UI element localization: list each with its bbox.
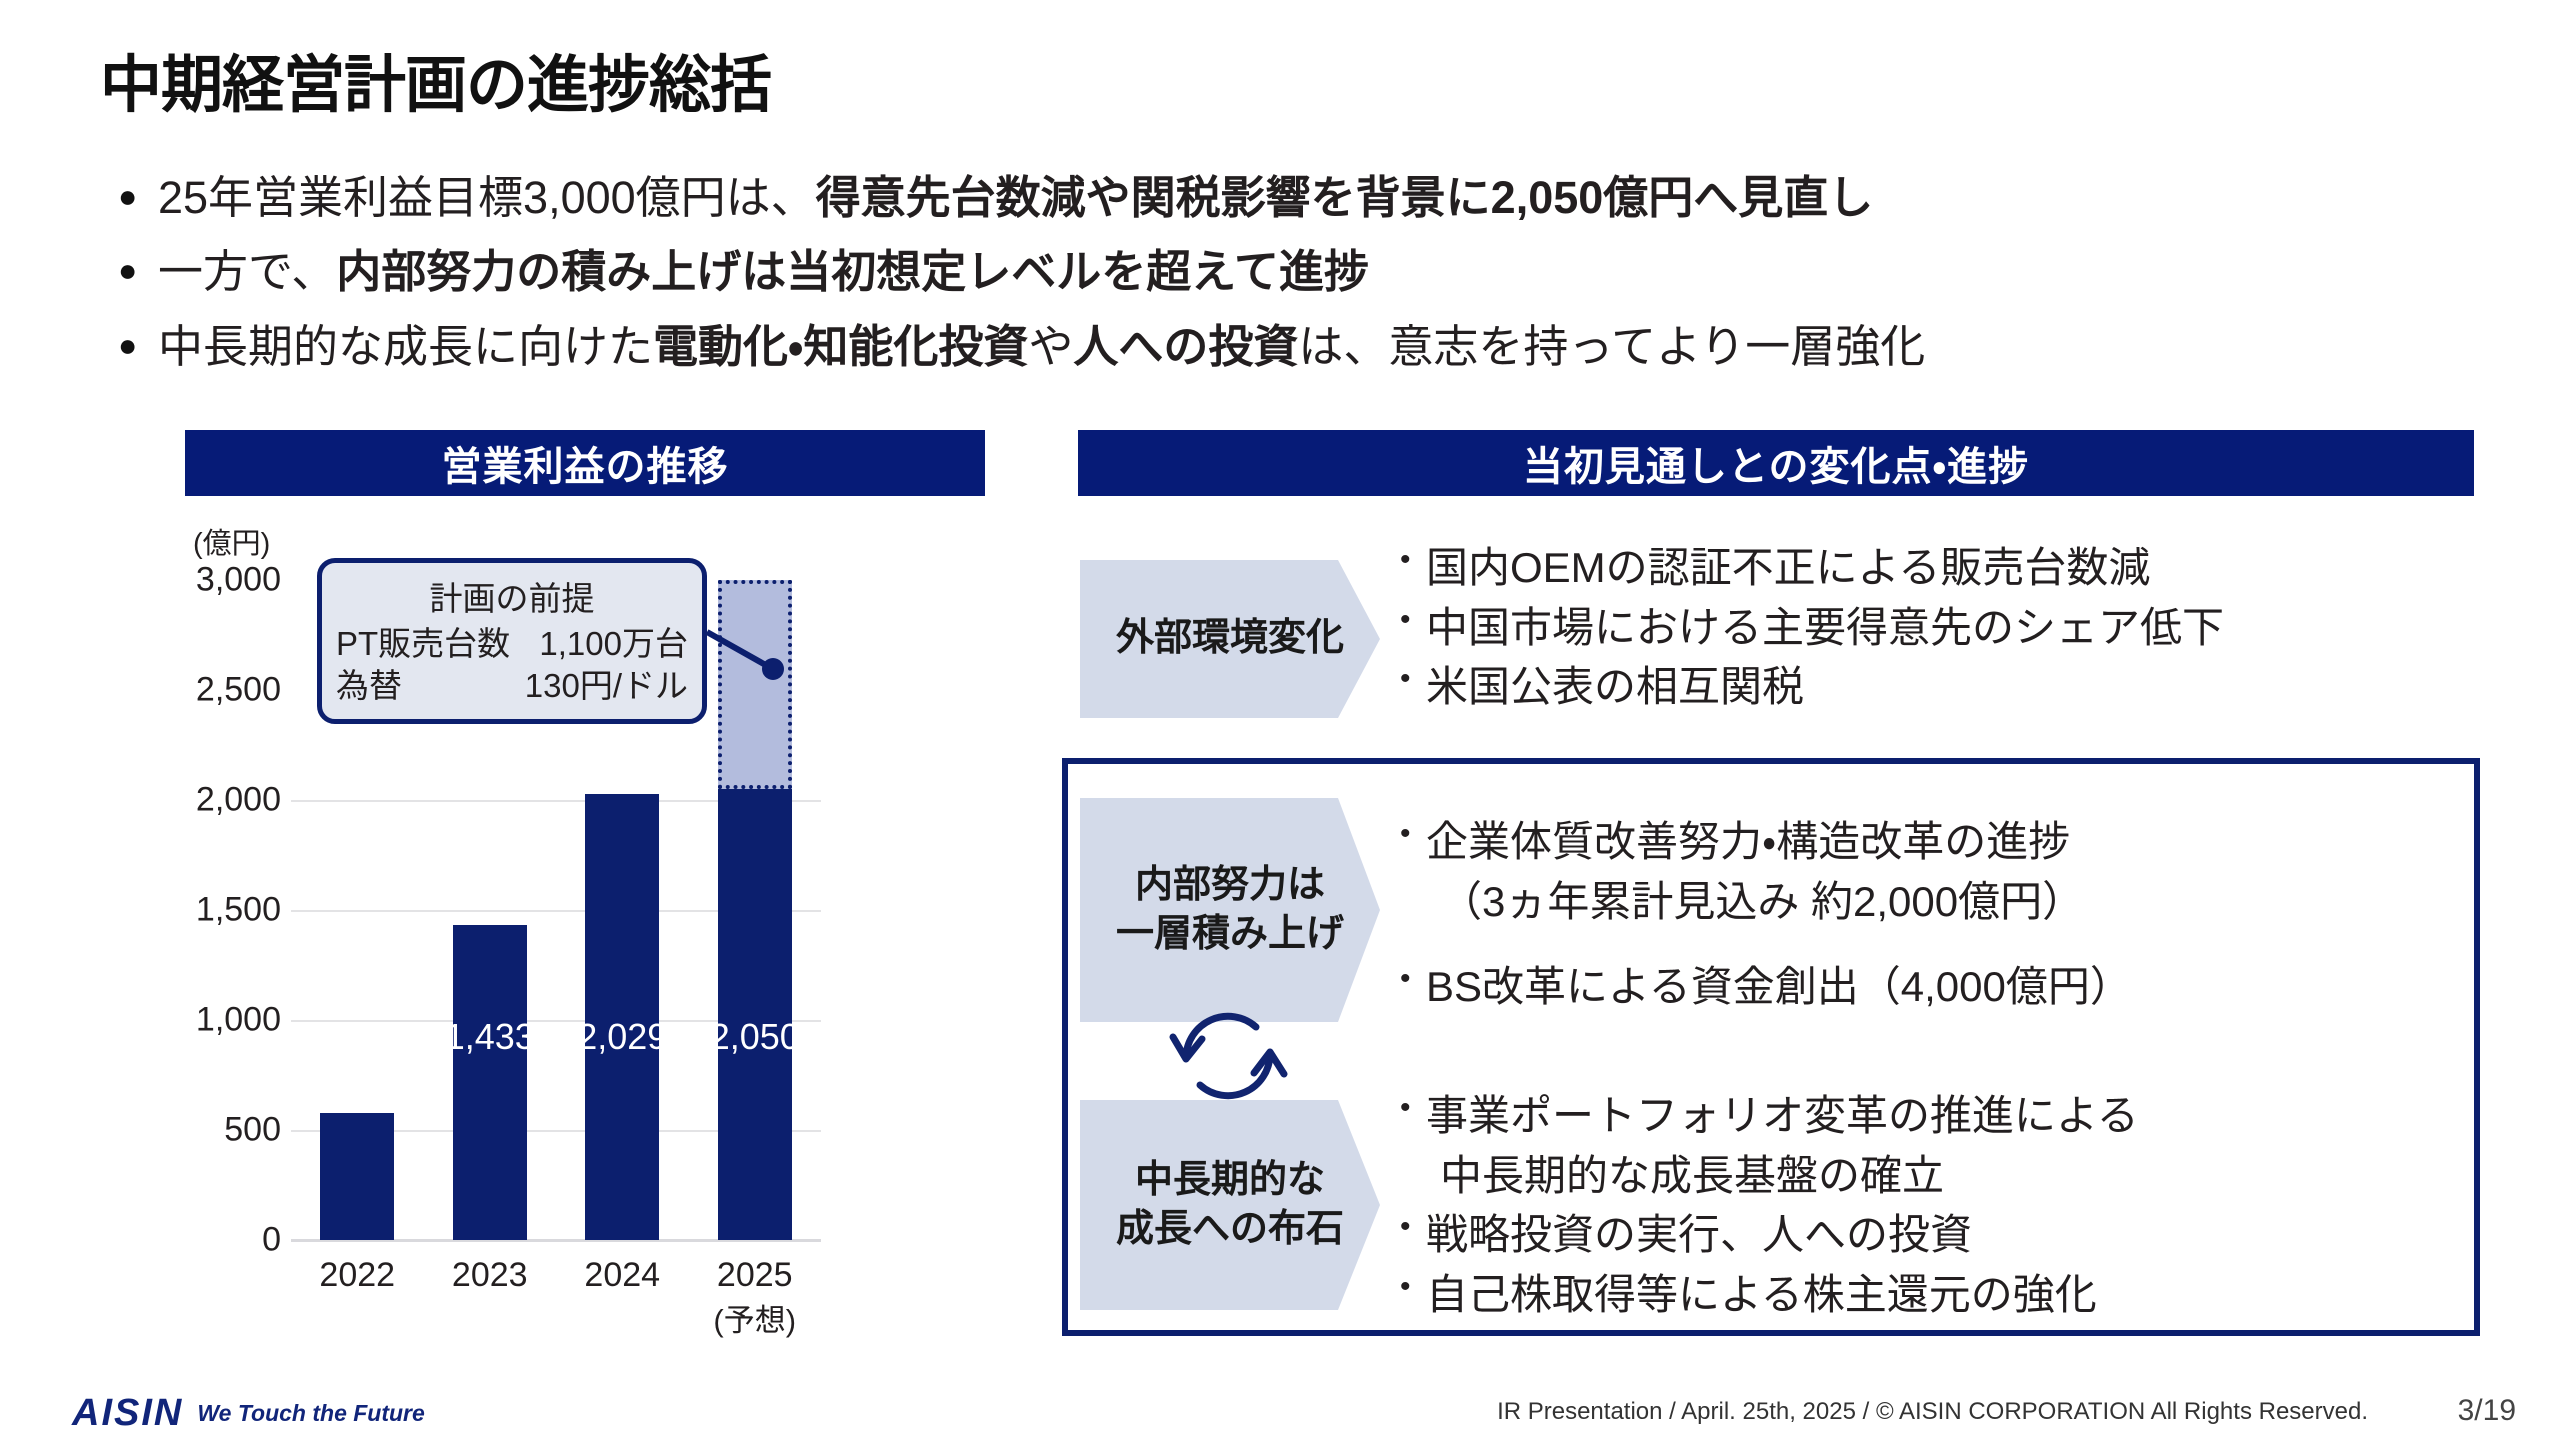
summary-bullet-text: 中長期的な成長に向けた電動化・知能化投資や人への投資は、意志を持ってより一層強化	[158, 317, 1925, 377]
bullet-dot-icon: •	[1400, 1265, 1426, 1309]
section-bullet-text: BS改革による資金創出（4,000億円）	[1426, 957, 2132, 1017]
bullet-dot-icon: •	[1400, 598, 1426, 642]
circular-arrows-icon	[1168, 996, 1288, 1116]
callout-title: 計画の前提	[336, 572, 688, 620]
chart-y-tick-label: 500	[185, 1111, 281, 1150]
bullet-marker-icon: ●	[118, 317, 158, 373]
summary-bullet-1: ●25年営業利益目標3,000億円は、得意先台数減や関税影響を背景に2,050億…	[118, 168, 2458, 228]
section-chevron-label-2: 内部努力は一層積み上げ	[1080, 798, 1380, 1022]
chart-bar-value-label: 1,433	[420, 1016, 560, 1058]
chart-bar	[320, 1113, 394, 1240]
bullet-dot-icon: •	[1400, 538, 1426, 582]
bullet-dot-icon: •	[1400, 812, 1426, 856]
bullet-dot-icon: •	[1400, 957, 1426, 1001]
chart-y-tick-label: 1,500	[185, 891, 281, 930]
section-chevron-label-1: 外部環境変化	[1080, 560, 1380, 718]
section-bullet-text: 国内OEMの認証不正による販売台数減	[1426, 538, 2150, 598]
chart-bar	[453, 925, 527, 1240]
aisin-wordmark: AISIN	[72, 1392, 183, 1435]
section-chevron-line: 中長期的な	[1135, 1156, 1325, 1205]
summary-bullet-text: 一方で、内部努力の積み上げは当初想定レベルを超えて進捗	[158, 242, 1369, 302]
chart-y-tick-label: 2,500	[185, 671, 281, 710]
section-bullet-text: 中国市場における主要得意先のシェア低下	[1426, 598, 2224, 658]
bullet-spacer	[1400, 931, 2132, 957]
chart-bar	[718, 789, 792, 1240]
chart-bar-value-label: 2,050	[685, 1016, 825, 1058]
aisin-logo: AISIN We Touch the Future	[72, 1392, 425, 1435]
callout-row-pt-label: PT販売台数	[336, 623, 510, 665]
callout-row-fx-value: 130円/ドル	[525, 665, 688, 707]
section-bullet-text: 自己株取得等による株主還元の強化	[1426, 1265, 2097, 1325]
section-chevron-line: 外部環境変化	[1116, 614, 1344, 663]
section-bullet-item: •事業ポートフォリオ変革の推進による中長期的な成長基盤の確立	[1400, 1086, 2139, 1205]
chart-panel-header: 営業利益の推移	[185, 430, 985, 496]
summary-bullet-list: ●25年営業利益目標3,000億円は、得意先台数減や関税影響を背景に2,050億…	[118, 168, 2458, 391]
section-bullets-2: •企業体質改善努力・構造改革の進捗（3ヵ年累計見込み 約2,000億円）•BS改…	[1400, 812, 2132, 1017]
chart-ghost-bar-original-target	[718, 580, 792, 789]
page-title: 中期経営計画の進捗総括	[100, 34, 771, 124]
section-chevron-line: 内部努力は	[1135, 861, 1325, 910]
chart-unit-label: (億円)	[193, 520, 270, 562]
chart-bar-value-label: 2,029	[552, 1016, 692, 1058]
operating-profit-bar-chart: (億円) 05001,0001,5002,0002,5003,000 5791,…	[185, 520, 995, 1310]
chart-y-tick-label: 2,000	[185, 781, 281, 820]
right-panel-header: 当初見通しとの変化点・進捗	[1078, 430, 2474, 496]
section-bullet-text: 企業体質改善努力・構造改革の進捗（3ヵ年累計見込み 約2,000億円）	[1426, 812, 2084, 931]
summary-bullet-text: 25年営業利益目標3,000億円は、得意先台数減や関税影響を背景に2,050億円…	[158, 168, 1873, 228]
chart-y-tick-label: 3,000	[185, 561, 281, 600]
callout-row-pt: PT販売台数 1,100万台	[336, 623, 688, 665]
bullet-dot-icon: •	[1400, 1086, 1426, 1130]
summary-bullet-3: ●中長期的な成長に向けた電動化・知能化投資や人への投資は、意志を持ってより一層強…	[118, 317, 2458, 377]
chart-x-tick-label: 2025(予想)	[675, 1256, 835, 1340]
callout-row-pt-value: 1,100万台	[539, 623, 688, 665]
section-bullet-text: 事業ポートフォリオ変革の推進による中長期的な成長基盤の確立	[1426, 1086, 2139, 1205]
section-bullets-3: •事業ポートフォリオ変革の推進による中長期的な成長基盤の確立•戦略投資の実行、人…	[1400, 1086, 2139, 1325]
section-chevron-label-3: 中長期的な成長への布石	[1080, 1100, 1380, 1310]
summary-bullet-2: ●一方で、内部努力の積み上げは当初想定レベルを超えて進捗	[118, 242, 2458, 302]
bullet-marker-icon: ●	[118, 168, 158, 224]
section-chevron-line: 一層積み上げ	[1116, 910, 1344, 959]
section-bullet-continuation: 中長期的な成長基盤の確立	[1426, 1146, 2139, 1206]
section-bullet-item: •戦略投資の実行、人への投資	[1400, 1205, 2139, 1265]
bullet-dot-icon: •	[1400, 1205, 1426, 1249]
aisin-tagline: We Touch the Future	[197, 1400, 424, 1427]
section-chevron-line: 成長への布石	[1116, 1205, 1344, 1254]
section-bullet-text: 戦略投資の実行、人への投資	[1426, 1205, 1972, 1265]
section-bullet-text: 米国公表の相互関税	[1426, 657, 1804, 717]
section-bullet-item: •国内OEMの認証不正による販売台数減	[1400, 538, 2224, 598]
section-bullet-item: •企業体質改善努力・構造改革の進捗（3ヵ年累計見込み 約2,000億円）	[1400, 812, 2132, 931]
section-bullet-item: •米国公表の相互関税	[1400, 657, 2224, 717]
bullet-dot-icon: •	[1400, 657, 1426, 701]
section-bullet-item: •BS改革による資金創出（4,000億円）	[1400, 957, 2132, 1017]
bullet-marker-icon: ●	[118, 242, 158, 298]
section-bullets-1: •国内OEMの認証不正による販売台数減•中国市場における主要得意先のシェア低下•…	[1400, 538, 2224, 717]
plan-assumptions-callout: 計画の前提 PT販売台数 1,100万台 為替 130円/ドル	[317, 558, 707, 724]
section-bullet-item: •中国市場における主要得意先のシェア低下	[1400, 598, 2224, 658]
section-bullet-continuation: （3ヵ年累計見込み 約2,000億円）	[1426, 872, 2084, 932]
callout-row-fx-label: 為替	[336, 665, 402, 707]
page-number: 3/19	[2458, 1394, 2516, 1428]
footer-copyright: IR Presentation / April. 25th, 2025 / © …	[1497, 1398, 2368, 1426]
chart-y-tick-label: 1,000	[185, 1001, 281, 1040]
chart-y-tick-label: 0	[185, 1221, 281, 1260]
chart-bar-value-label: 579	[287, 1016, 427, 1058]
section-bullet-item: •自己株取得等による株主還元の強化	[1400, 1265, 2139, 1325]
callout-row-fx: 為替 130円/ドル	[336, 665, 688, 707]
